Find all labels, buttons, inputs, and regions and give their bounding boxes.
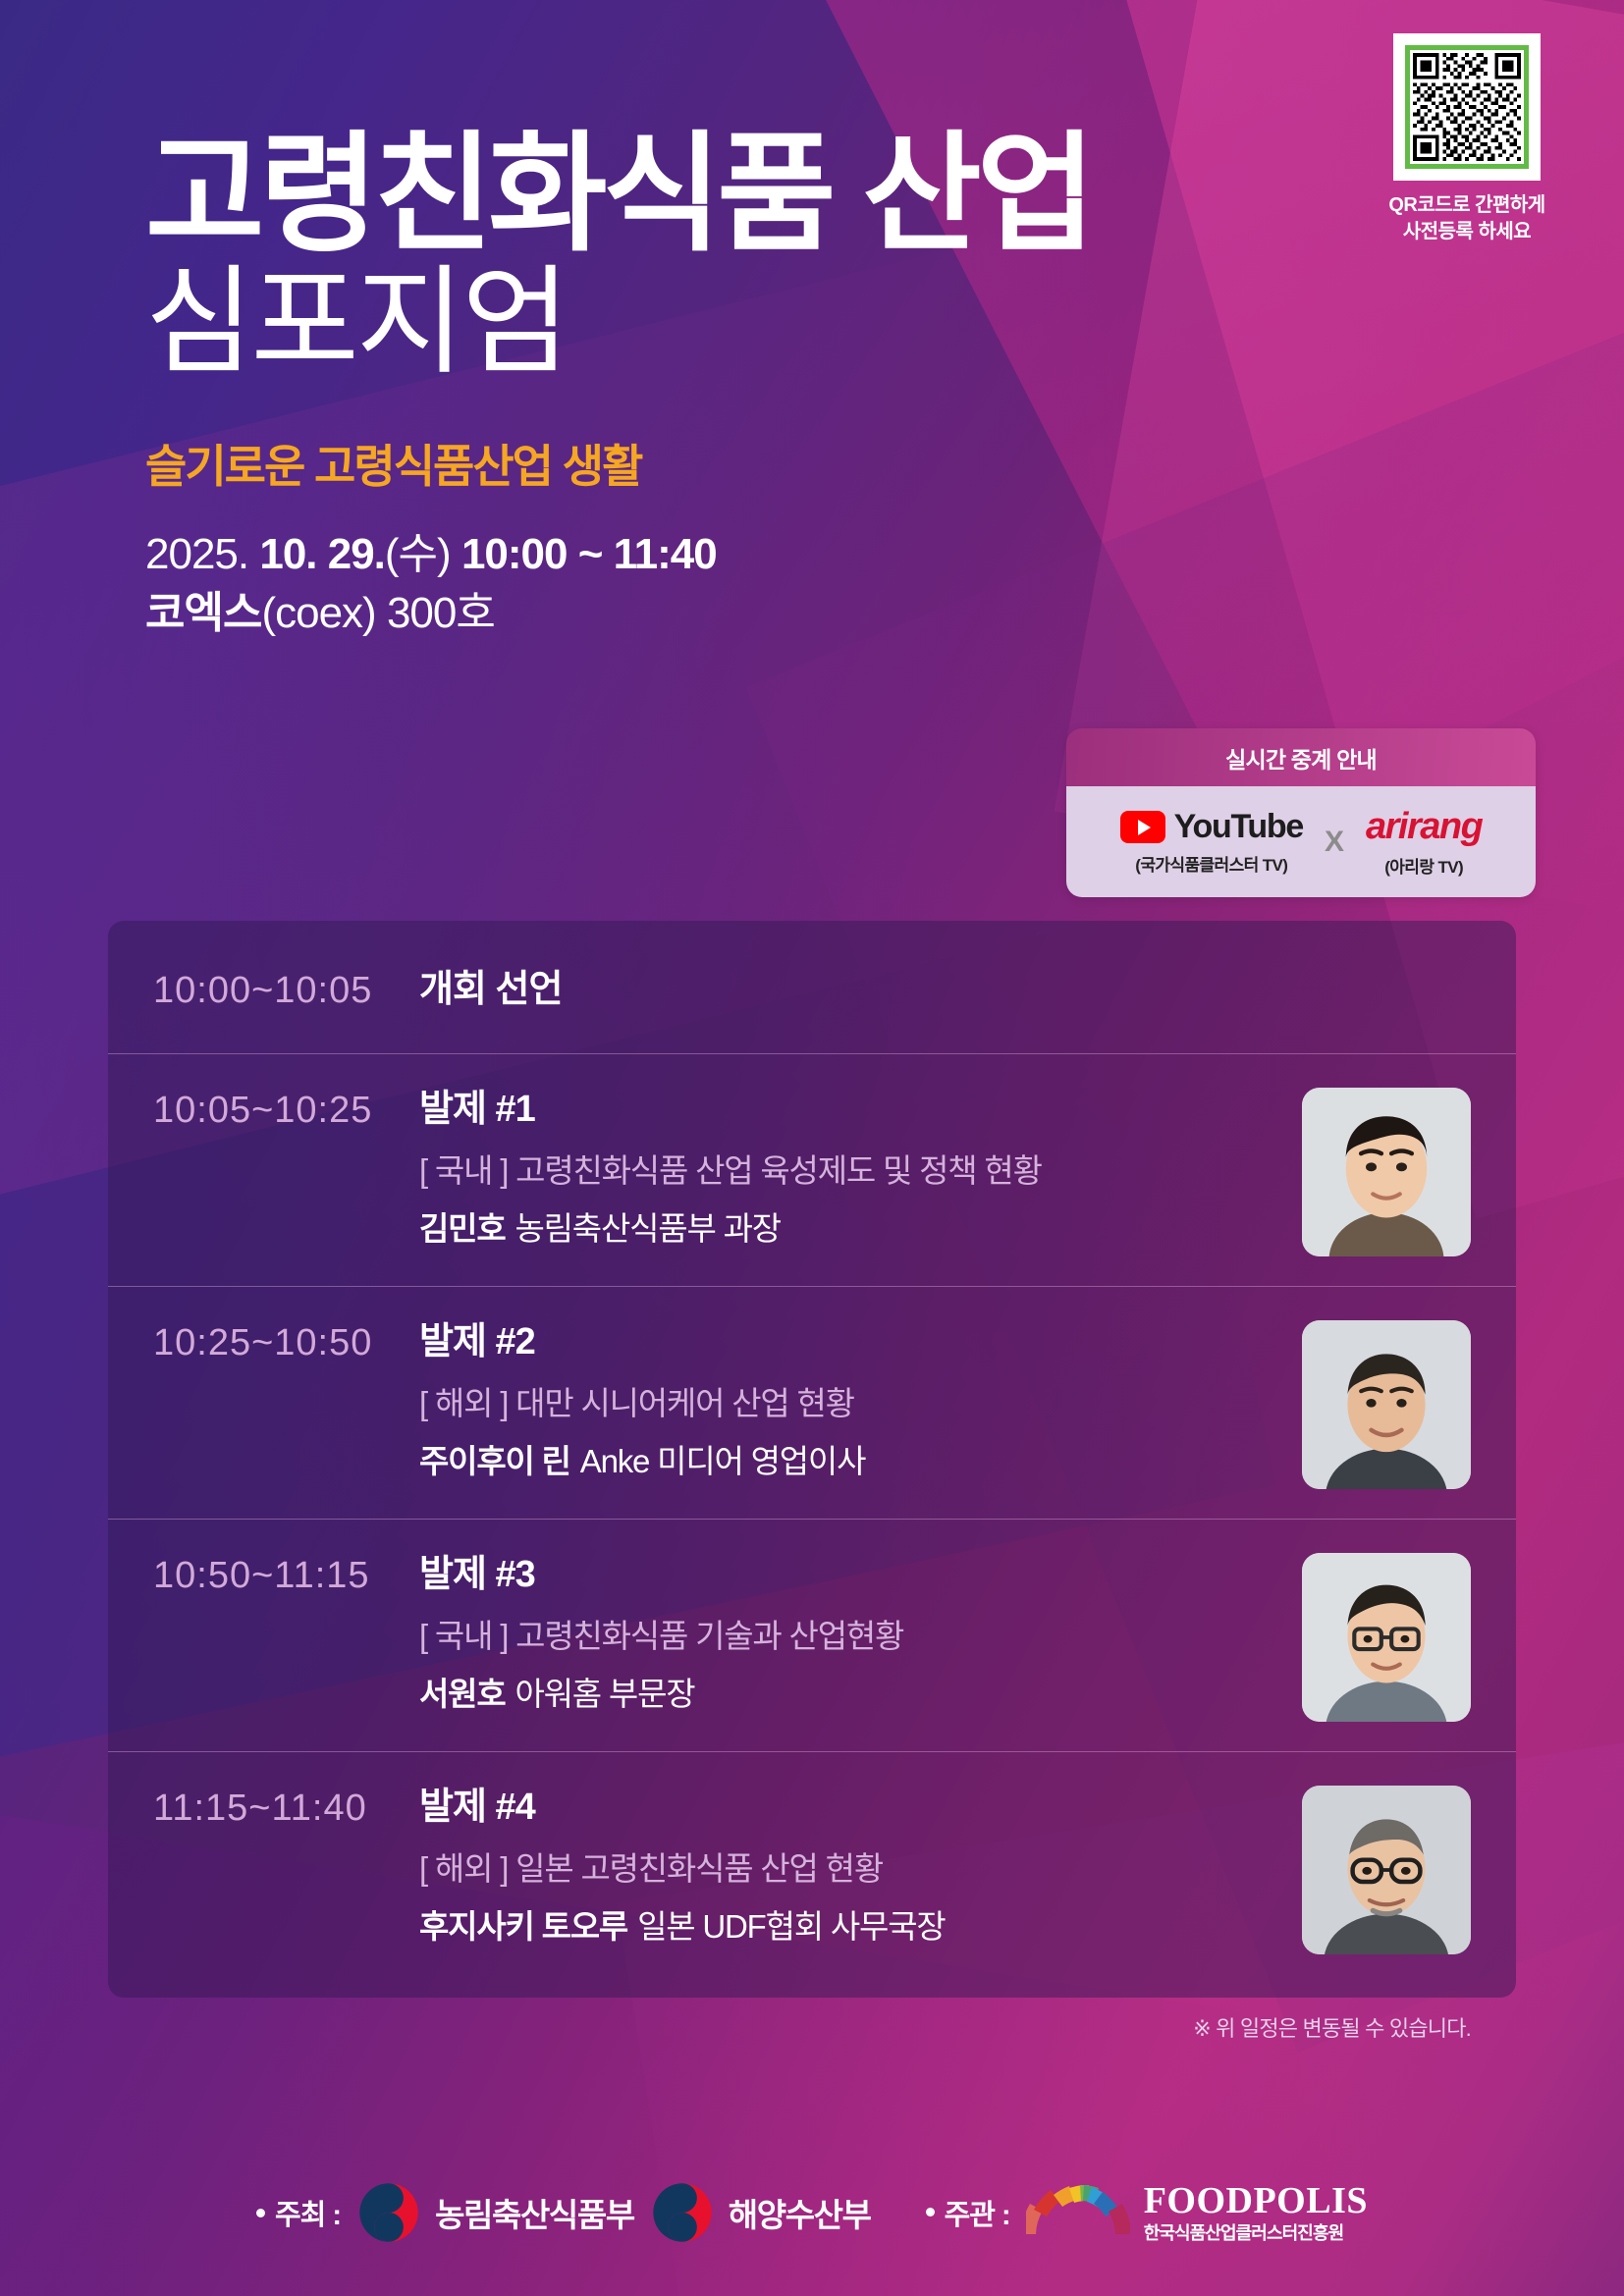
poster-canvas: QR코드로 간편하게 사전등록 하세요 고령친화식품 산업 심포지엄 슬기로운 … xyxy=(0,0,1624,2296)
organizer-group: 주관 : FOODP xyxy=(926,2182,1368,2242)
qr-registration-block[interactable]: QR코드로 간편하게 사전등록 하세요 xyxy=(1379,33,1555,245)
row-time: 10:50~11:15 xyxy=(153,1553,413,1597)
poster-title-sub: 심포지엄 xyxy=(145,261,1091,384)
table-row: 10:05~10:25 발제 #1 [ 국내 ] 고령친화식품 산업 육성제도 … xyxy=(108,1053,1516,1286)
row-topic: [ 해외 ] 일본 고령친화식품 산업 현황 xyxy=(419,1848,1284,1889)
speaker-photo xyxy=(1302,1553,1471,1722)
speaker-photo xyxy=(1302,1320,1471,1489)
qr-caption-line-2: 사전등록 하세요 xyxy=(1379,219,1555,245)
row-topic: [ 국내 ] 고령친화식품 산업 육성제도 및 정책 현황 xyxy=(419,1150,1284,1191)
host-ministry-1-name: 농림축산식품부 xyxy=(435,2189,634,2236)
event-year: 2025. xyxy=(145,530,248,578)
row-time: 10:00~10:05 xyxy=(153,968,413,1012)
organizer-label-text: 주관 : xyxy=(945,2192,1010,2233)
row-time: 10:05~10:25 xyxy=(153,1088,413,1132)
foodpolis-subtitle: 한국식품산업클러스터진흥원 xyxy=(1144,2224,1368,2243)
venue-name-en: (coex) xyxy=(261,589,375,637)
row-title: 발제 #1 xyxy=(419,1088,1284,1132)
host-ministry-2-name: 해양수산부 xyxy=(729,2189,871,2236)
youtube-channel[interactable]: YouTube (국가식품클러스터 TV) xyxy=(1120,808,1303,876)
qr-caption-line-1: QR코드로 간편하게 xyxy=(1379,192,1555,219)
speaker-name: 후지사키 토오루 xyxy=(419,1908,627,1945)
speaker-name: 김민호 xyxy=(419,1210,505,1247)
speaker-name: 서원호 xyxy=(419,1676,505,1712)
foodpolis-text: FOODPOLIS 한국식품산업클러스터진흥원 xyxy=(1144,2182,1368,2242)
venue-room: 300호 xyxy=(387,589,495,637)
host-label-text: 주최 : xyxy=(275,2192,341,2233)
foodpolis-logo: FOODPOLIS 한국식품산업클러스터진흥원 xyxy=(1026,2182,1368,2242)
bullet-icon xyxy=(926,2208,935,2216)
speaker-name: 주이후이 린 xyxy=(419,1443,570,1479)
row-body: 발제 #4 [ 해외 ] 일본 고령친화식품 산업 현황 후지사키 토오루일본 … xyxy=(413,1786,1284,1947)
youtube-logo: YouTube xyxy=(1120,808,1303,846)
table-row: 10:50~11:15 발제 #3 [ 국내 ] 고령친화식품 기술과 산업현황… xyxy=(108,1519,1516,1751)
footer-sponsors: 주최 : 농림축산식품부 해양수산부 xyxy=(0,2180,1624,2245)
live-broadcast-box[interactable]: 실시간 중계 안내 YouTube (국가식품클러스터 TV) X ariran… xyxy=(1066,728,1536,897)
headline-block: 고령친화식품 산업 심포지엄 슬기로운 고령식품산업 생활 2025. 10. … xyxy=(145,133,1091,644)
row-topic: [ 해외 ] 대만 시니어케어 산업 현황 xyxy=(419,1383,1284,1423)
row-title: 발제 #3 xyxy=(419,1553,1284,1597)
live-broadcast-header: 실시간 중계 안내 xyxy=(1066,728,1536,786)
arirang-channel-note: (아리랑 TV) xyxy=(1366,853,1482,878)
row-time: 11:15~11:40 xyxy=(153,1786,413,1830)
qr-card[interactable] xyxy=(1393,33,1541,181)
row-title: 발제 #2 xyxy=(419,1320,1284,1364)
row-body: 발제 #2 [ 해외 ] 대만 시니어케어 산업 현황 주이후이 린Anke 미… xyxy=(413,1320,1284,1481)
live-broadcast-body: YouTube (국가식품클러스터 TV) X arirang (아리랑 TV) xyxy=(1066,786,1536,897)
host-group: 주최 : 농림축산식품부 해양수산부 xyxy=(256,2180,871,2245)
speaker-photo xyxy=(1302,1786,1471,1954)
table-row: 10:00~10:05 개회 선언 xyxy=(108,927,1516,1053)
speaker-org: 아워홈 부문장 xyxy=(514,1676,694,1712)
schedule-card: 10:00~10:05 개회 선언 10:05~10:25 발제 #1 [ 국내… xyxy=(108,921,1516,1998)
event-venue: 코엑스(coex) 300호 xyxy=(145,584,1091,644)
row-title: 발제 #4 xyxy=(419,1786,1284,1830)
arirang-wordmark: arirang xyxy=(1366,806,1482,848)
venue-name: 코엑스 xyxy=(145,589,261,637)
youtube-play-icon xyxy=(1120,811,1165,843)
event-weekday: (수) xyxy=(385,530,451,578)
poster-title-main: 고령친화식품 산업 xyxy=(145,133,1091,257)
youtube-channel-note: (국가식품클러스터 TV) xyxy=(1120,851,1303,876)
row-body: 개회 선언 xyxy=(413,968,1471,1012)
row-speaker: 서원호아워홈 부문장 xyxy=(419,1674,1284,1714)
youtube-wordmark: YouTube xyxy=(1174,808,1303,846)
schedule-note: ※ 위 일정은 변동될 수 있습니다. xyxy=(1193,2011,1471,2043)
event-time: 10:00 ~ 11:40 xyxy=(461,530,717,578)
speaker-org: Anke 미디어 영업이사 xyxy=(580,1443,865,1479)
poster-tagline: 슬기로운 고령식품산업 생활 xyxy=(145,431,1091,496)
foodpolis-wordmark: FOODPOLIS xyxy=(1144,2182,1368,2221)
taeguk-icon xyxy=(650,2180,715,2245)
live-separator-x: X xyxy=(1325,826,1344,859)
row-speaker: 주이후이 린Anke 미디어 영업이사 xyxy=(419,1441,1284,1481)
qr-caption: QR코드로 간편하게 사전등록 하세요 xyxy=(1379,192,1555,245)
row-title: 개회 선언 xyxy=(419,968,1471,1012)
row-speaker: 후지사키 토오루일본 UDF협회 사무국장 xyxy=(419,1906,1284,1947)
qr-code-icon[interactable] xyxy=(1405,45,1529,169)
host-label: 주최 : xyxy=(256,2192,341,2233)
row-body: 발제 #3 [ 국내 ] 고령친화식품 기술과 산업현황 서원호아워홈 부문장 xyxy=(413,1553,1284,1714)
row-topic: [ 국내 ] 고령친화식품 기술과 산업현황 xyxy=(419,1616,1284,1656)
event-month-day: 10. 29. xyxy=(259,530,385,578)
row-speaker: 김민호농림축산식품부 과장 xyxy=(419,1208,1284,1249)
speaker-org: 일본 UDF협회 사무국장 xyxy=(637,1908,945,1945)
table-row: 11:15~11:40 발제 #4 [ 해외 ] 일본 고령친화식품 산업 현황… xyxy=(108,1751,1516,1984)
row-body: 발제 #1 [ 국내 ] 고령친화식품 산업 육성제도 및 정책 현황 김민호농… xyxy=(413,1088,1284,1249)
row-time: 10:25~10:50 xyxy=(153,1320,413,1364)
organizer-label: 주관 : xyxy=(926,2192,1010,2233)
taeguk-icon xyxy=(356,2180,421,2245)
event-datetime: 2025. 10. 29.(수) 10:00 ~ 11:40 xyxy=(145,525,1091,585)
foodpolis-fan-icon xyxy=(1026,2183,1130,2242)
speaker-org: 농림축산식품부 과장 xyxy=(514,1210,780,1247)
table-row: 10:25~10:50 발제 #2 [ 해외 ] 대만 시니어케어 산업 현황 … xyxy=(108,1286,1516,1519)
host-ministry-1: 농림축산식품부 xyxy=(356,2180,634,2245)
speaker-photo xyxy=(1302,1088,1471,1256)
arirang-channel[interactable]: arirang (아리랑 TV) xyxy=(1366,806,1482,878)
host-ministry-2: 해양수산부 xyxy=(650,2180,871,2245)
bullet-icon xyxy=(256,2209,265,2217)
